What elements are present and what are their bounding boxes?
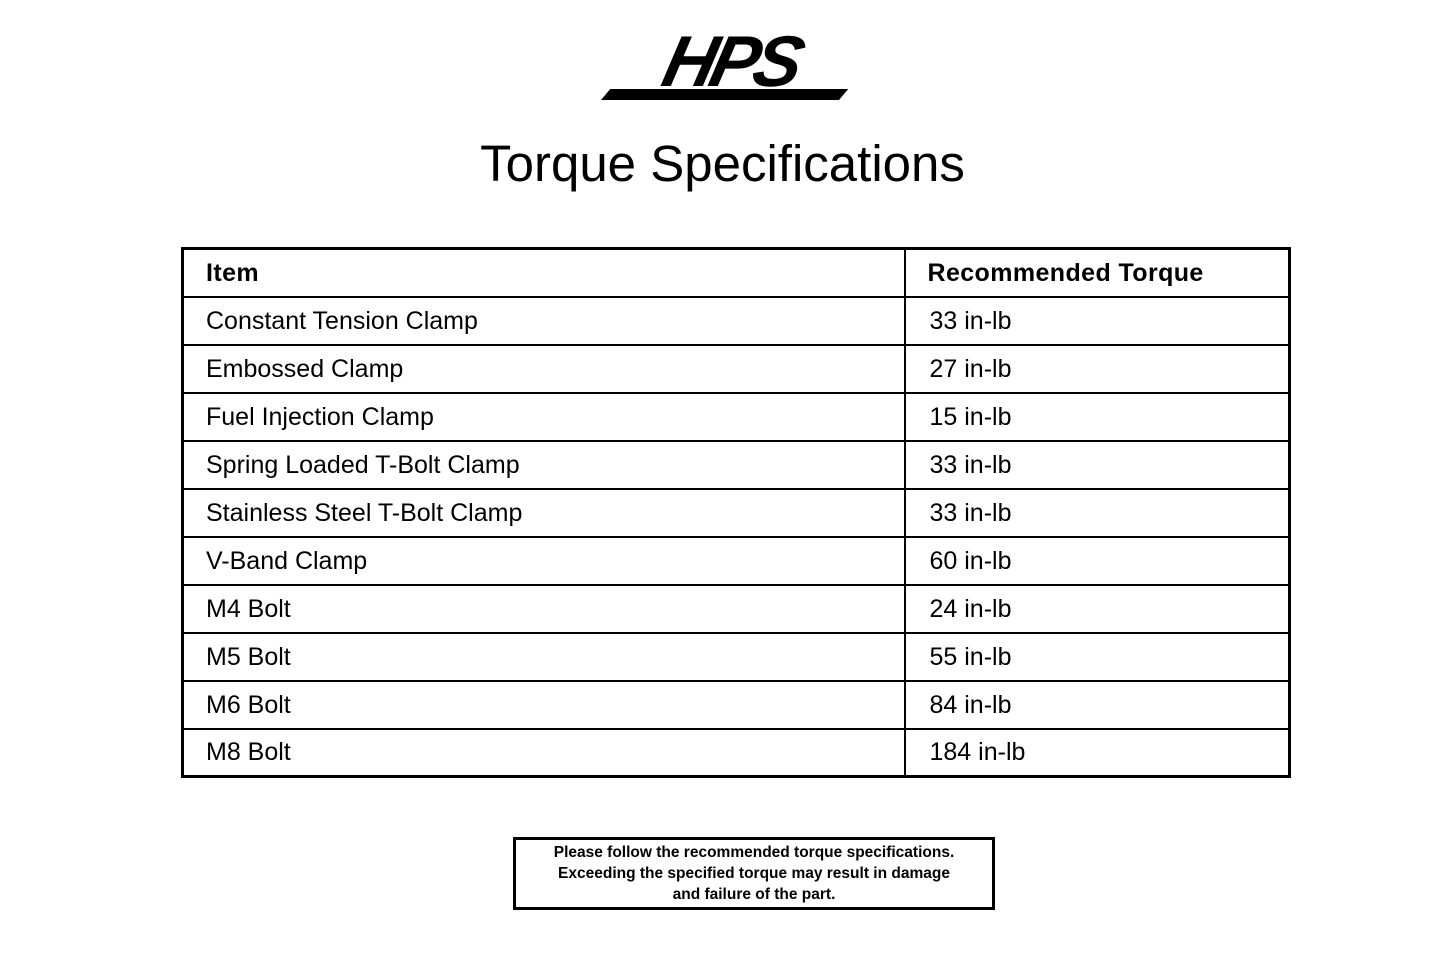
- item-cell: Stainless Steel T-Bolt Clamp: [183, 489, 905, 537]
- table-row: M5 Bolt55 in-lb: [183, 633, 1290, 681]
- table-row: Fuel Injection Clamp15 in-lb: [183, 393, 1290, 441]
- page-title: Torque Specifications: [0, 133, 1445, 195]
- torque-cell: 15 in-lb: [905, 393, 1290, 441]
- logo-underline-bar: [601, 89, 848, 100]
- item-cell: Constant Tension Clamp: [183, 297, 905, 345]
- item-cell: Spring Loaded T-Bolt Clamp: [183, 441, 905, 489]
- torque-cell: 27 in-lb: [905, 345, 1290, 393]
- footnote-box: Please follow the recommended torque spe…: [513, 837, 995, 910]
- torque-cell: 33 in-lb: [905, 297, 1290, 345]
- table-row: M6 Bolt84 in-lb: [183, 681, 1290, 729]
- table-header-row: Item Recommended Torque: [183, 249, 1290, 297]
- table-row: M4 Bolt24 in-lb: [183, 585, 1290, 633]
- hps-wordmark-icon: HPS: [598, 28, 848, 104]
- item-cell: M8 Bolt: [183, 729, 905, 777]
- torque-cell: 33 in-lb: [905, 489, 1290, 537]
- table-body: Constant Tension Clamp33 in-lbEmbossed C…: [183, 297, 1290, 777]
- column-header-recommended-torque: Recommended Torque: [905, 249, 1290, 297]
- footnote-line-3: and failure of the part.: [673, 884, 836, 905]
- footnote-line-1: Please follow the recommended torque spe…: [554, 842, 955, 863]
- column-header-item: Item: [183, 249, 905, 297]
- torque-cell: 84 in-lb: [905, 681, 1290, 729]
- item-cell: V-Band Clamp: [183, 537, 905, 585]
- item-cell: M6 Bolt: [183, 681, 905, 729]
- table-row: M8 Bolt184 in-lb: [183, 729, 1290, 777]
- table-row: Constant Tension Clamp33 in-lb: [183, 297, 1290, 345]
- table-row: V-Band Clamp60 in-lb: [183, 537, 1290, 585]
- torque-cell: 55 in-lb: [905, 633, 1290, 681]
- item-cell: Fuel Injection Clamp: [183, 393, 905, 441]
- torque-cell: 60 in-lb: [905, 537, 1290, 585]
- torque-cell: 24 in-lb: [905, 585, 1290, 633]
- table-row: Spring Loaded T-Bolt Clamp33 in-lb: [183, 441, 1290, 489]
- torque-cell: 33 in-lb: [905, 441, 1290, 489]
- table-row: Embossed Clamp27 in-lb: [183, 345, 1290, 393]
- torque-cell: 184 in-lb: [905, 729, 1290, 777]
- item-cell: M4 Bolt: [183, 585, 905, 633]
- table-row: Stainless Steel T-Bolt Clamp33 in-lb: [183, 489, 1290, 537]
- item-cell: M5 Bolt: [183, 633, 905, 681]
- torque-specifications-table: Item Recommended Torque Constant Tension…: [181, 247, 1291, 778]
- logo-text: HPS: [598, 26, 865, 98]
- brand-logo: HPS: [0, 28, 1445, 108]
- item-cell: Embossed Clamp: [183, 345, 905, 393]
- footnote-line-2: Exceeding the specified torque may resul…: [558, 863, 950, 884]
